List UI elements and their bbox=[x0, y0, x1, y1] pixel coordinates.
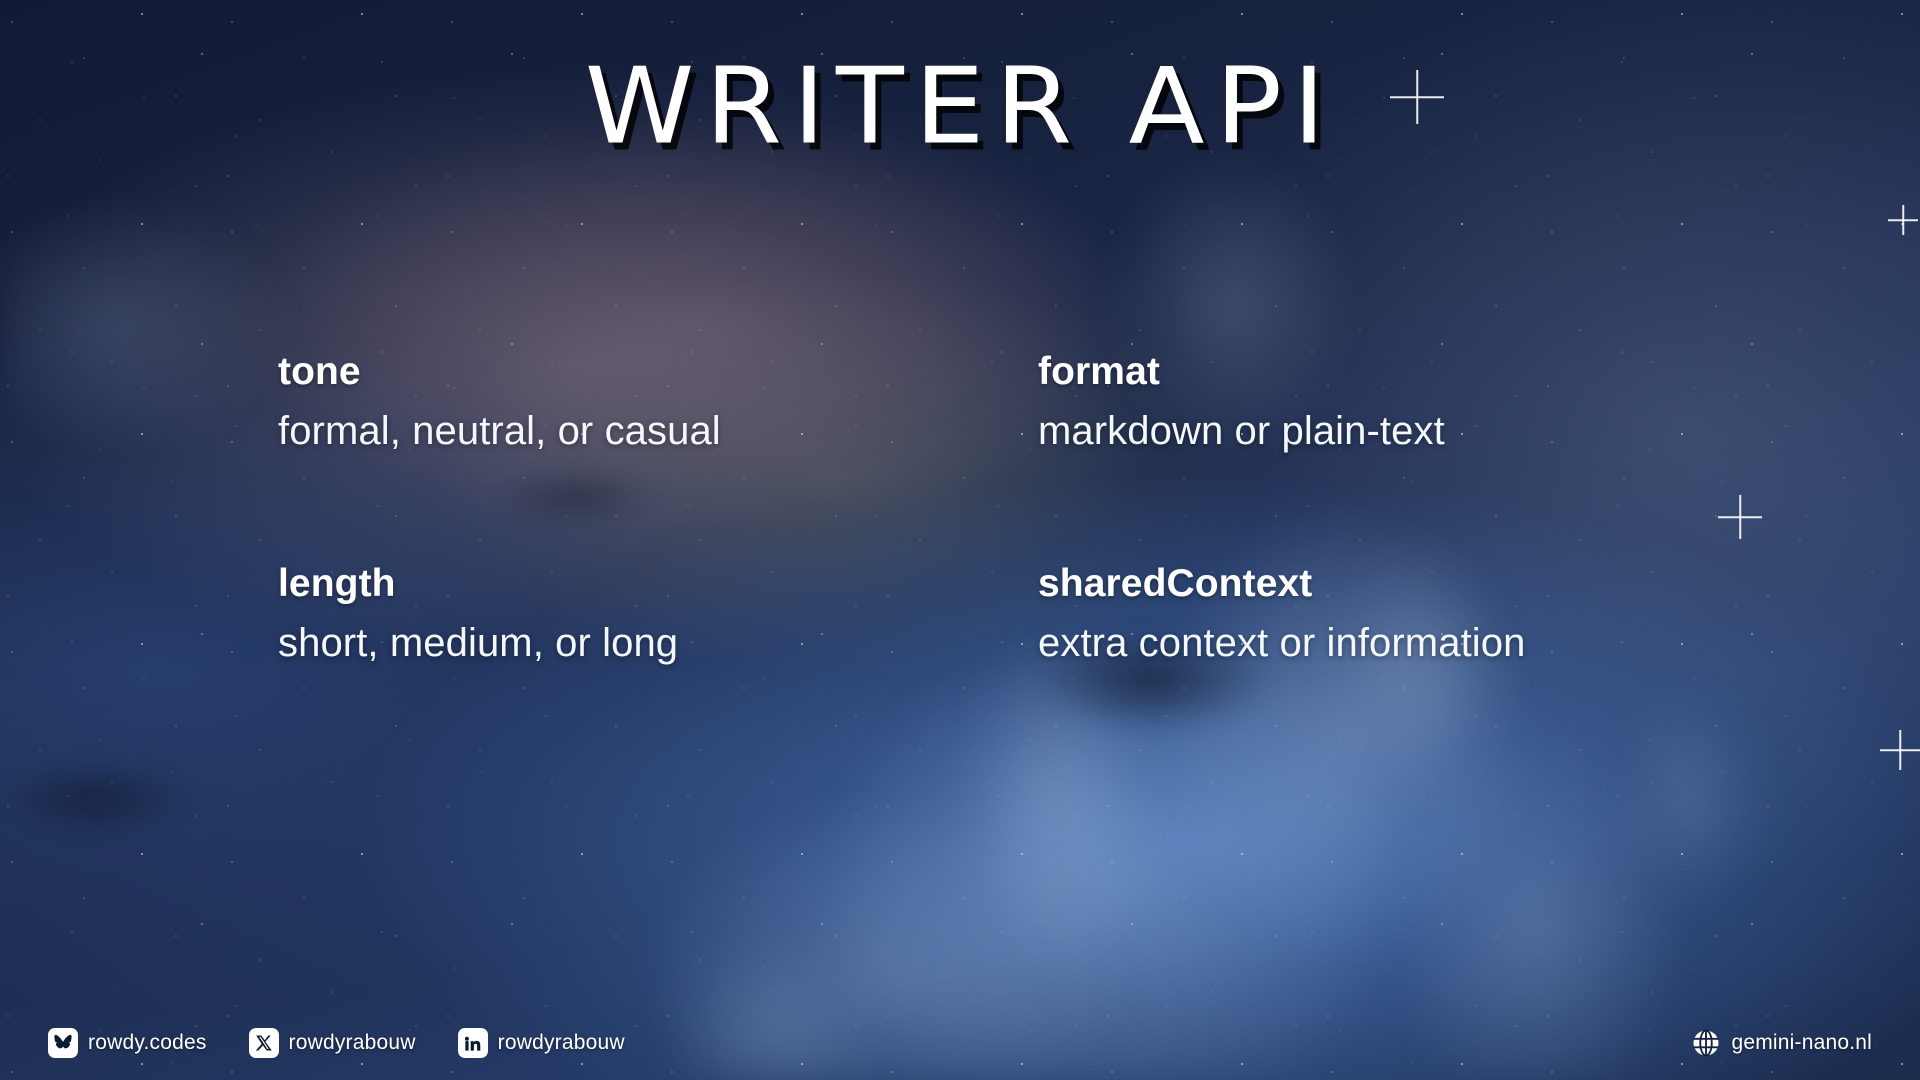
presentation-slide: WRITER API tone formal, neutral, or casu… bbox=[0, 0, 1920, 1080]
x-twitter-icon bbox=[249, 1028, 279, 1058]
option-term: format bbox=[1038, 352, 1698, 391]
option-description: formal, neutral, or casual bbox=[278, 411, 1038, 451]
option-item-length: length short, medium, or long bbox=[278, 564, 1038, 663]
social-link-label: rowdy.codes bbox=[88, 1031, 207, 1055]
option-term: length bbox=[278, 564, 1038, 603]
bluesky-icon bbox=[48, 1028, 78, 1058]
social-link-label: rowdyrabouw bbox=[498, 1031, 625, 1055]
social-link-linkedin[interactable]: rowdyrabouw bbox=[458, 1028, 625, 1058]
website-link[interactable]: gemini-nano.nl bbox=[1691, 1028, 1872, 1058]
social-link-label: rowdyrabouw bbox=[289, 1031, 416, 1055]
option-description: markdown or plain-text bbox=[1038, 411, 1698, 451]
page-title: WRITER API bbox=[584, 52, 1335, 164]
option-item-format: format markdown or plain-text bbox=[1038, 352, 1698, 451]
social-link-bluesky[interactable]: rowdy.codes bbox=[48, 1028, 207, 1058]
option-term: tone bbox=[278, 352, 1038, 391]
linkedin-icon bbox=[458, 1028, 488, 1058]
option-term: sharedContext bbox=[1038, 564, 1698, 603]
option-description: extra context or information bbox=[1038, 623, 1698, 663]
option-item-tone: tone formal, neutral, or casual bbox=[278, 352, 1038, 451]
options-grid: tone formal, neutral, or casual format m… bbox=[278, 352, 1698, 663]
footer-social-links: rowdy.codes rowdyrabouw rowdyrabouw bbox=[48, 1028, 625, 1058]
title-container: WRITER API bbox=[0, 52, 1920, 152]
website-link-label: gemini-nano.nl bbox=[1731, 1031, 1872, 1055]
option-description: short, medium, or long bbox=[278, 623, 1038, 663]
social-link-x[interactable]: rowdyrabouw bbox=[249, 1028, 416, 1058]
footer-website-link[interactable]: gemini-nano.nl bbox=[1691, 1028, 1872, 1058]
option-item-sharedcontext: sharedContext extra context or informati… bbox=[1038, 564, 1698, 663]
globe-icon bbox=[1691, 1028, 1721, 1058]
